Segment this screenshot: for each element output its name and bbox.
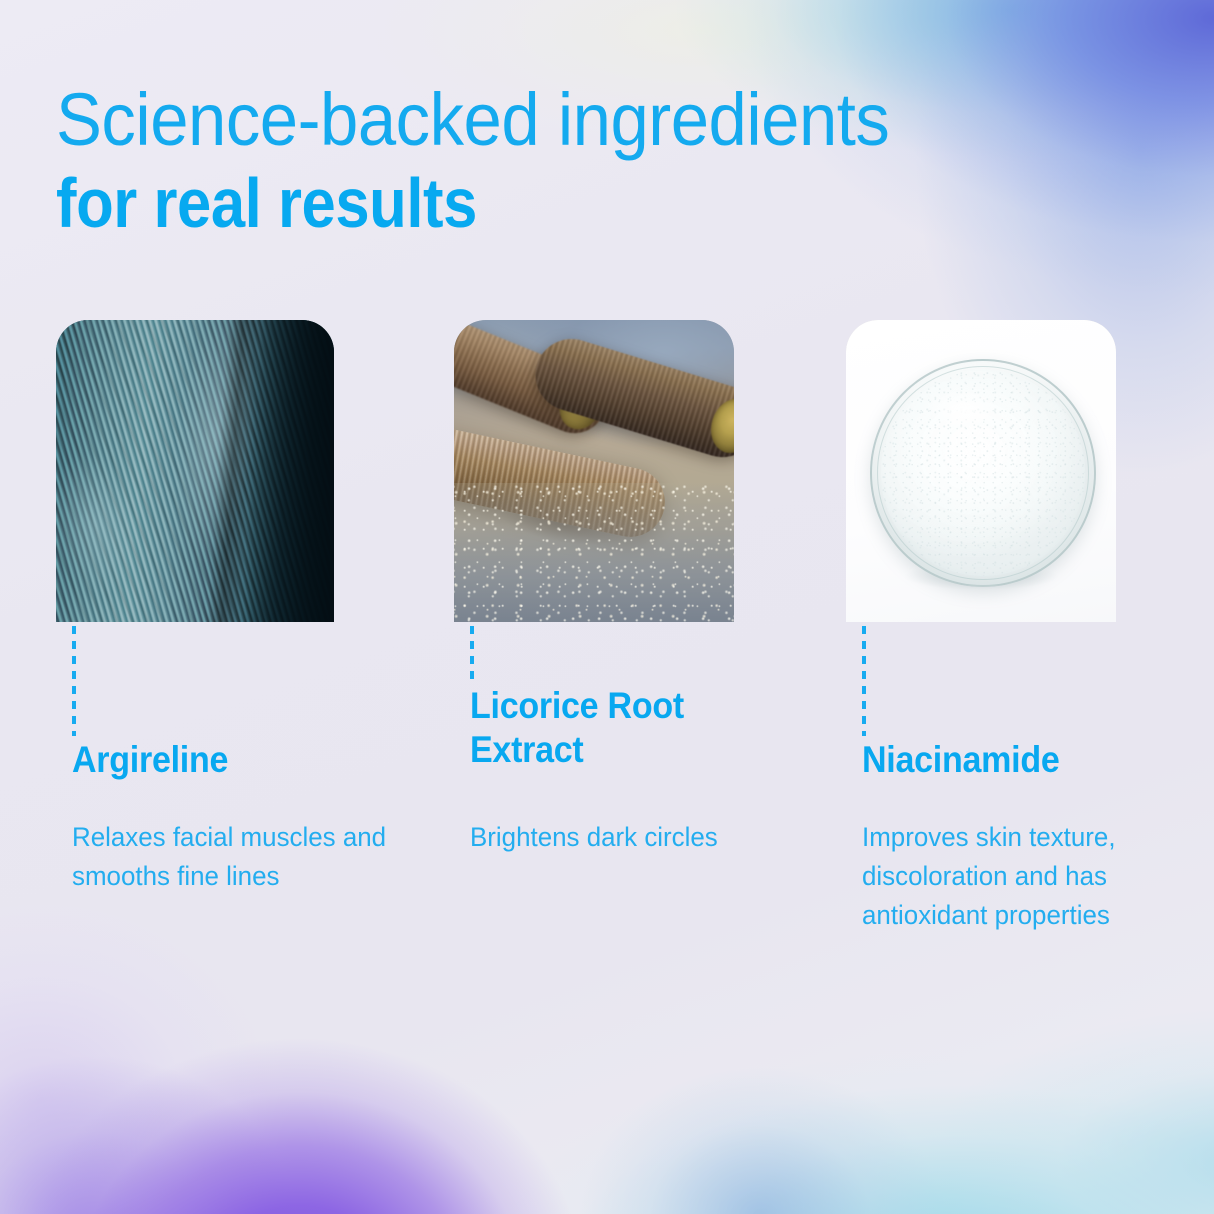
petri-dish xyxy=(870,359,1095,586)
fabric-dark-edge xyxy=(245,320,334,622)
ingredients-infographic: Science-backed ingredients for real resu… xyxy=(0,0,1214,1214)
ingredient-card-licorice-root-extract: Licorice Root Extract Brightens dark cir… xyxy=(454,320,784,622)
licorice-powder-surface xyxy=(454,483,734,622)
ingredient-description: Relaxes facial muscles and smooths fine … xyxy=(72,818,389,896)
dashed-connector-line xyxy=(72,626,76,736)
headline-line-2: for real results xyxy=(56,164,845,242)
argireline-image xyxy=(56,320,334,622)
ingredient-title: Licorice Root Extract xyxy=(470,684,774,772)
ingredient-card-niacinamide: Niacinamide Improves skin texture, disco… xyxy=(846,320,1176,622)
dashed-connector-line xyxy=(862,626,866,736)
ingredient-card-argireline: Argireline Relaxes facial muscles and sm… xyxy=(56,320,396,622)
page-title: Science-backed ingredients for real resu… xyxy=(56,78,952,242)
ingredient-description: Brightens dark circles xyxy=(470,818,787,857)
niacinamide-image xyxy=(846,320,1116,622)
dashed-connector-line xyxy=(470,626,474,682)
ingredient-title: Niacinamide xyxy=(862,738,1166,782)
licorice-root-image xyxy=(454,320,734,622)
ingredient-description: Improves skin texture, discoloration and… xyxy=(862,818,1179,935)
ingredient-title: Argireline xyxy=(72,738,376,782)
headline-line-1: Science-backed ingredients xyxy=(56,78,889,162)
petri-glass-highlight xyxy=(912,381,1014,439)
